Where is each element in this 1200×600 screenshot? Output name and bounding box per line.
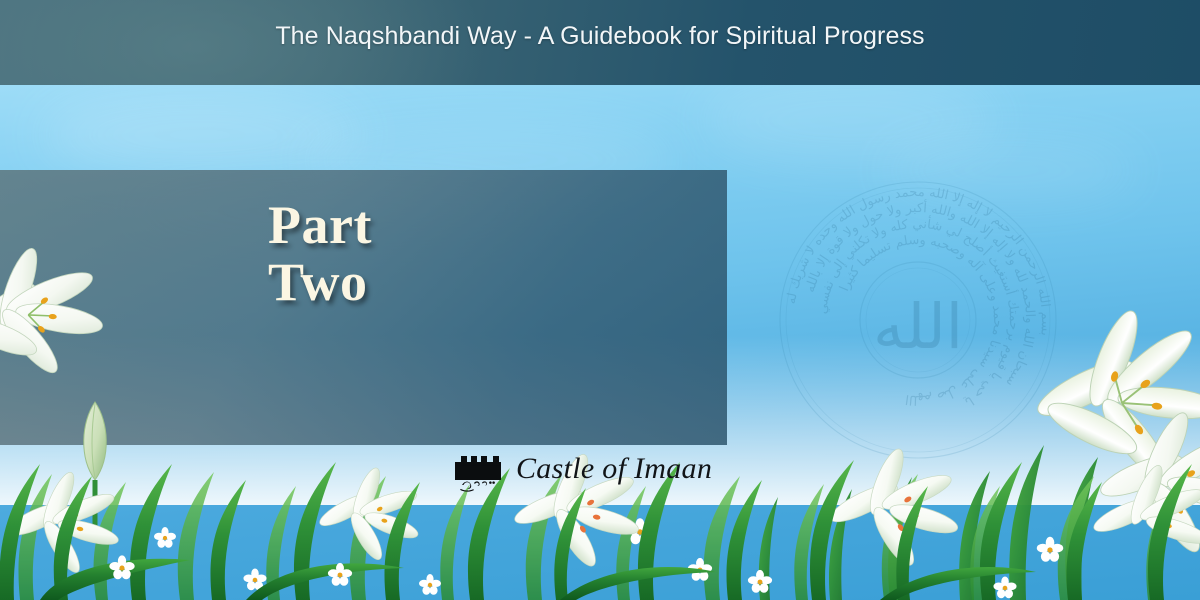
svg-text:بسم الله الرحمن الرحيم لا إله: بسم الله الرحمن الرحيم لا إله إلا الله م… xyxy=(784,185,1053,337)
page-title: The Naqshbandi Way - A Guidebook for Spi… xyxy=(0,22,1200,51)
part-title: Part Two xyxy=(268,200,372,309)
svg-text:اللهم صل على سيدنا محمد وعلى آ: اللهم صل على سيدنا محمد وعلى آله وصحبه و… xyxy=(837,233,1005,407)
cloud-wisp xyxy=(880,140,1140,200)
part-label: Part xyxy=(268,200,372,251)
header-bar: The Naqshbandi Way - A Guidebook for Spi… xyxy=(0,0,1200,85)
brand-name: Castle of Imaan xyxy=(516,454,712,484)
arabic-calligraphy-medallion-icon: بسم الله الرحمن الرحيم لا إله إلا الله م… xyxy=(768,170,1068,470)
cloud-wisp xyxy=(700,85,1000,165)
svg-text:سبحان الله والحمد لله ولا إله: سبحان الله والحمد لله ولا إله إلا الله و… xyxy=(803,199,1037,389)
svg-text:الله: الله xyxy=(873,290,963,363)
title-overlay-panel: Part Two xyxy=(0,170,727,445)
part-number-word: Two xyxy=(268,257,372,308)
cover-page: The Naqshbandi Way - A Guidebook for Spi… xyxy=(0,0,1200,600)
cloud-wisp xyxy=(40,95,360,175)
castle-icon xyxy=(452,443,504,495)
cover-scene: بسم الله الرحمن الرحيم لا إله إلا الله م… xyxy=(0,85,1200,600)
svg-text:يا حي يا قيوم برحمتك أستغيث أص: يا حي يا قيوم برحمتك أستغيث أصلح لي شأني… xyxy=(815,214,1021,409)
brand-logo[interactable]: Castle of Imaan xyxy=(452,443,712,495)
